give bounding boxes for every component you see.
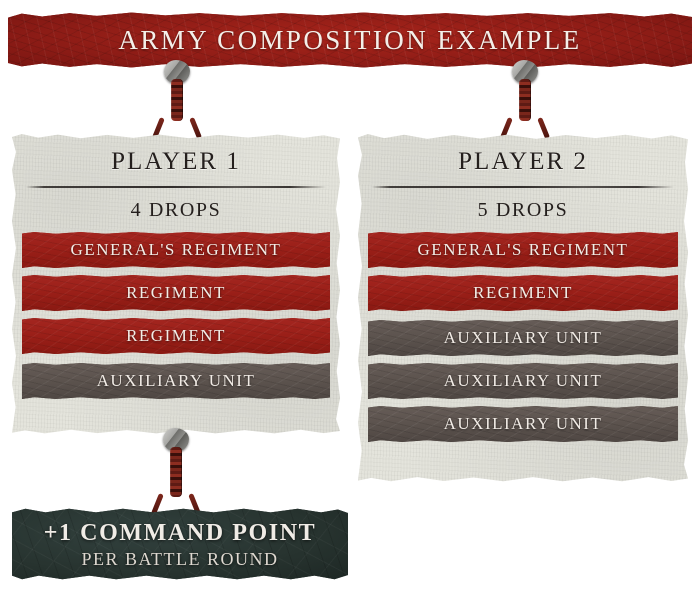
hanger-player-2 bbox=[502, 60, 548, 138]
hanger-command-point bbox=[153, 428, 199, 514]
hanger-player-1 bbox=[154, 60, 200, 138]
unit-bar[interactable]: REGIMENT bbox=[22, 318, 330, 354]
unit-list: GENERAL'S REGIMENT REGIMENT REGIMENT AUX… bbox=[12, 232, 340, 399]
unit-bar[interactable]: AUXILIARY UNIT bbox=[368, 320, 678, 356]
command-point-sub-label: PER BATTLE ROUND bbox=[12, 547, 348, 570]
unit-bar[interactable]: REGIMENT bbox=[368, 275, 678, 311]
unit-bar[interactable]: REGIMENT bbox=[22, 275, 330, 311]
player-panel-2: PLAYER 2 5 DROPS GENERAL'S REGIMENT REGI… bbox=[358, 134, 688, 482]
player-drops: 5 DROPS bbox=[358, 193, 688, 232]
player-name: PLAYER 1 bbox=[12, 134, 340, 176]
player-drops: 4 DROPS bbox=[12, 193, 340, 232]
title-divider bbox=[372, 182, 674, 193]
title-banner: ARMY COMPOSITION EXAMPLE bbox=[8, 12, 692, 68]
unit-list: GENERAL'S REGIMENT REGIMENT AUXILIARY UN… bbox=[358, 232, 688, 442]
chain-icon bbox=[519, 79, 531, 121]
unit-bar[interactable]: GENERAL'S REGIMENT bbox=[22, 232, 330, 268]
unit-bar[interactable]: GENERAL'S REGIMENT bbox=[368, 232, 678, 268]
unit-bar[interactable]: AUXILIARY UNIT bbox=[368, 406, 678, 442]
chain-icon bbox=[170, 447, 182, 497]
unit-bar[interactable]: AUXILIARY UNIT bbox=[22, 363, 330, 399]
unit-bar[interactable]: AUXILIARY UNIT bbox=[368, 363, 678, 399]
command-point-main-label: +1 COMMAND POINT bbox=[12, 508, 348, 547]
player-panel-1: PLAYER 1 4 DROPS GENERAL'S REGIMENT REGI… bbox=[12, 134, 340, 434]
command-point-box: +1 COMMAND POINT PER BATTLE ROUND bbox=[12, 508, 348, 580]
chain-icon bbox=[171, 79, 183, 121]
title-divider bbox=[26, 182, 326, 193]
player-name: PLAYER 2 bbox=[358, 134, 688, 176]
page-title: ARMY COMPOSITION EXAMPLE bbox=[8, 12, 692, 68]
